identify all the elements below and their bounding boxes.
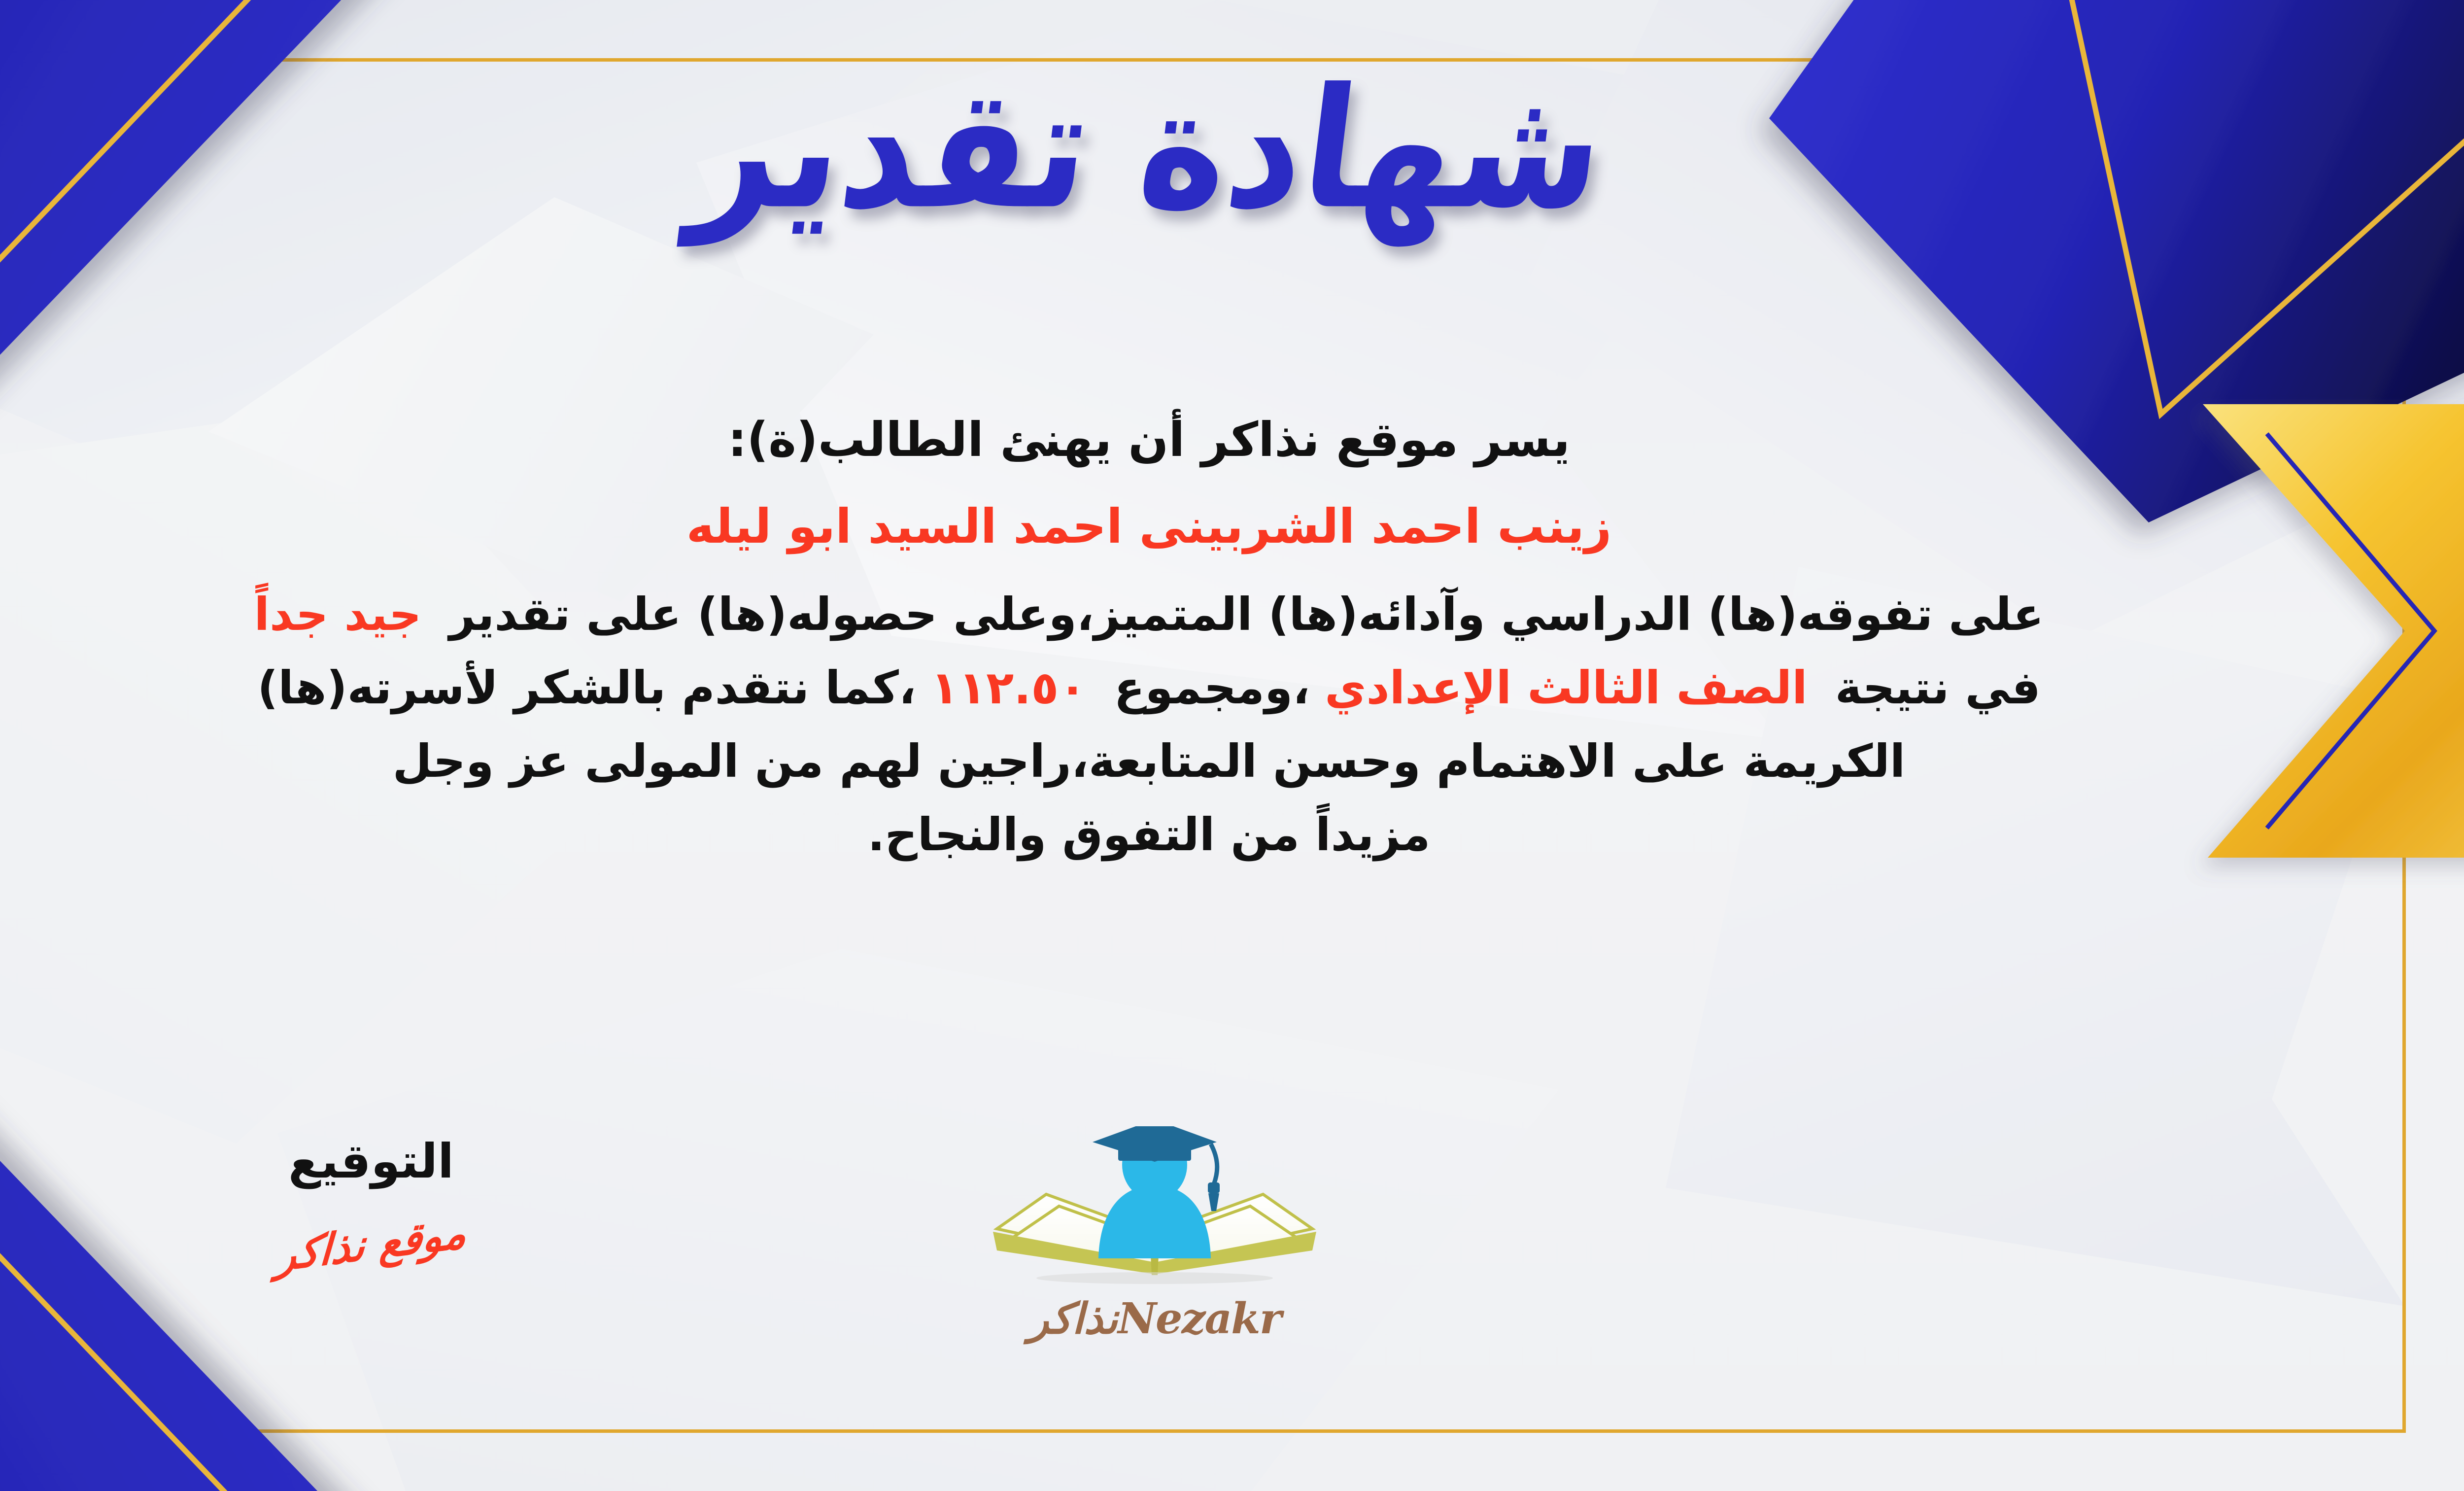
citation-row2-prefix: في نتيجة: [1835, 661, 2041, 714]
citation-row2-suffix: ،كما نتقدم بالشكر لأسرته(ها): [257, 661, 916, 714]
citation-paragraph: على تفوقه(ها) الدراسي وآدائه(ها) المتميز…: [0, 578, 2380, 871]
graduate-on-book-logo-icon: [967, 1126, 1342, 1289]
total-score-value: ١١٢.٥٠: [931, 661, 1087, 714]
student-name: زينب احمد الشربينى احمد السيد ابو ليله: [0, 499, 2380, 554]
class-value: الصف الثالث الإعدادي: [1325, 661, 1808, 714]
citation-row1-text: على تفوقه(ها) الدراسي وآدائه(ها) المتميز…: [449, 588, 2044, 641]
certificate-page: شهادة تقدير يسر موقع نذاكر أن يهنئ الطال…: [0, 0, 2464, 1491]
brand-name-arabic: نذاكر: [1028, 1294, 1118, 1344]
citation-row-4: مزيداً من التفوق والنجاح.: [0, 798, 2380, 871]
signature-label: التوقيع: [213, 1134, 529, 1189]
certificate-title-wrap: شهادة تقدير: [0, 64, 2464, 234]
brand-name: Nezakrنذاكر: [967, 1294, 1342, 1344]
page-title: شهادة تقدير: [684, 54, 1615, 244]
citation-row-1: على تفوقه(ها) الدراسي وآدائه(ها) المتميز…: [0, 578, 2380, 651]
citation-row2-mid: ،ومجموع: [1114, 661, 1310, 714]
citation-row-2: في نتيجةالصف الثالث الإعدادي،ومجموع١١٢.٥…: [0, 651, 2380, 725]
certificate-body: يسر موقع نذاكر أن يهنئ الطالب(ة): زينب ا…: [0, 404, 2380, 871]
intro-line: يسر موقع نذاكر أن يهنئ الطالب(ة):: [0, 404, 2380, 476]
signature-block: التوقيع موقع نذاكر: [213, 1134, 529, 1269]
grade-value: جيد جداً: [254, 588, 421, 641]
brand-logo-block: Nezakrنذاكر: [967, 1126, 1342, 1344]
brand-name-latin: Nezakr: [1118, 1294, 1281, 1344]
citation-row-3: الكريمة على الاهتمام وحسن المتابعة،راجين…: [0, 725, 2380, 798]
